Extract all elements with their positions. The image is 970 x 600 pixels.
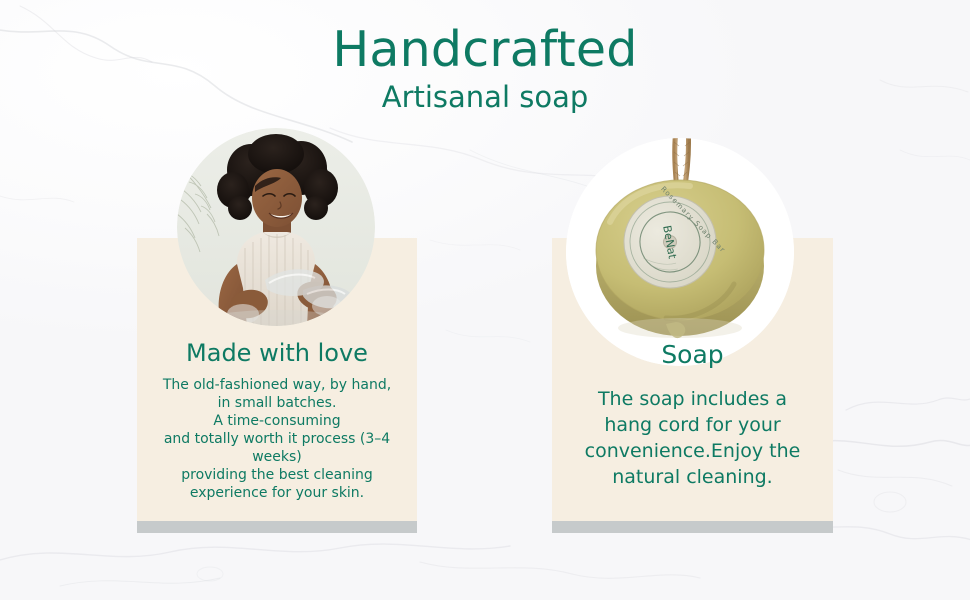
poster-header: Handcrafted Artisanal soap	[0, 22, 970, 115]
page-subtitle: Artisanal soap	[0, 79, 970, 115]
card-base-bar-right	[552, 521, 833, 533]
page-title: Handcrafted	[0, 22, 970, 78]
card-text-made-with-love: The old-fashioned way, by hand, in small…	[137, 376, 417, 502]
round-soap-on-cord-photo: BeNat Rosemary Soap Bar	[566, 138, 794, 366]
card-content-made-with-love: Made with love The old-fashioned way, by…	[137, 338, 417, 502]
card-text-soap: The soap includes a hang cord for your c…	[552, 386, 833, 490]
card-heading-made-with-love: Made with love	[137, 338, 417, 368]
card-heading-soap: Soap	[552, 340, 833, 370]
woman-making-soap-photo	[177, 128, 375, 326]
card-content-soap: Soap The soap includes a hang cord for y…	[552, 340, 833, 490]
card-base-bar-left	[137, 521, 417, 533]
poster-canvas: Handcrafted Artisanal soap	[0, 0, 970, 600]
